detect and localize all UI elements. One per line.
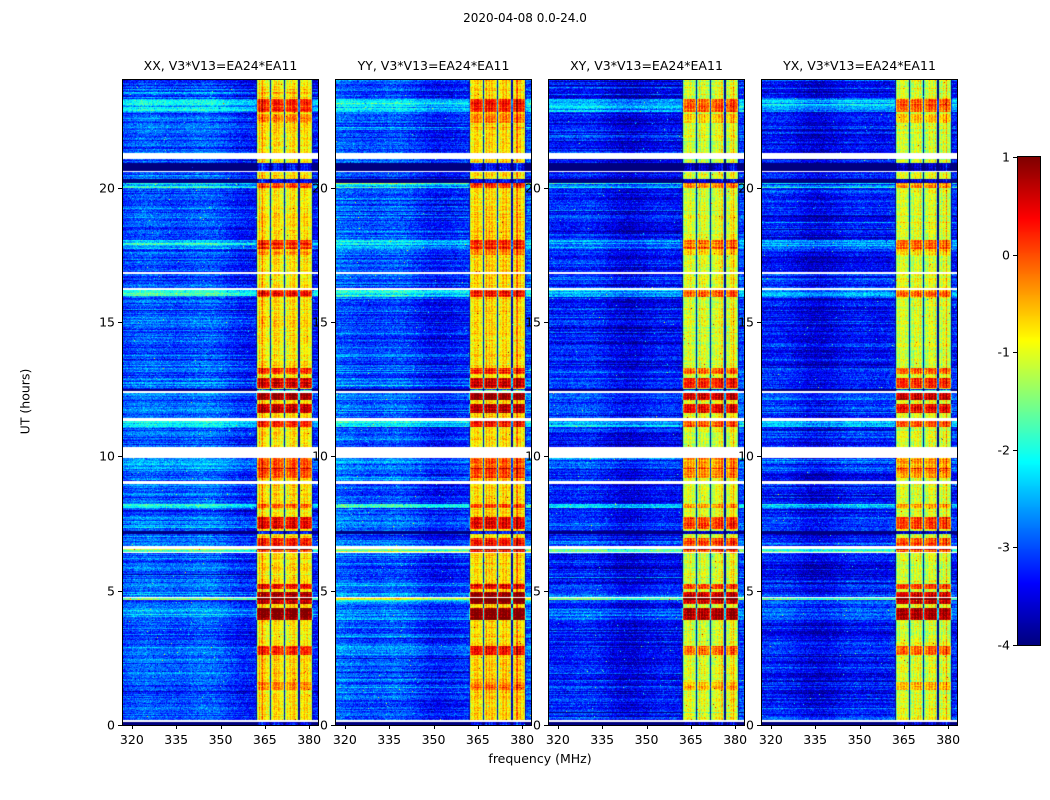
y-tick-label-yy-4: 20 bbox=[288, 180, 328, 195]
y-tickmark-xy-4 bbox=[544, 188, 548, 189]
x-tick-label-xx-3: 365 bbox=[253, 732, 277, 747]
y-tick-label-yy-0: 0 bbox=[288, 718, 328, 733]
y-tickmark-xy-3 bbox=[544, 322, 548, 323]
y-tickmark-yx-0 bbox=[757, 725, 761, 726]
y-tick-label-xx-2: 10 bbox=[75, 449, 115, 464]
colorbar bbox=[1017, 156, 1041, 646]
y-tick-label-yy-2: 10 bbox=[288, 449, 328, 464]
x-tickmark-yy-0 bbox=[345, 725, 346, 729]
y-tick-label-xx-3: 15 bbox=[75, 314, 115, 329]
waterfall-image-xx bbox=[123, 80, 318, 725]
x-tick-label-yx-4: 380 bbox=[936, 732, 960, 747]
waterfall-panel-yy: YY, V3*V13=EA24*EA11 bbox=[335, 79, 532, 726]
y-tick-label-yx-2: 10 bbox=[714, 449, 754, 464]
waterfall-panel-xx: XX, V3*V13=EA24*EA11 bbox=[122, 79, 319, 726]
x-tickmark-yx-4 bbox=[948, 725, 949, 729]
x-tickmark-yy-2 bbox=[434, 725, 435, 729]
x-tick-label-xx-2: 350 bbox=[209, 732, 233, 747]
y-tickmark-xx-4 bbox=[118, 188, 122, 189]
x-tickmark-xx-0 bbox=[132, 725, 133, 729]
x-tick-label-yy-0: 320 bbox=[333, 732, 357, 747]
y-tick-label-yy-3: 15 bbox=[288, 314, 328, 329]
waterfall-panel-yx: YX, V3*V13=EA24*EA11 bbox=[761, 79, 958, 726]
y-tickmark-yx-1 bbox=[757, 591, 761, 592]
x-tickmark-xx-1 bbox=[176, 725, 177, 729]
x-tick-label-xy-3: 365 bbox=[679, 732, 703, 747]
y-axis-label: UT (hours) bbox=[18, 341, 33, 461]
waterfall-image-xy bbox=[549, 80, 744, 725]
colorbar-tickmark-1 bbox=[1013, 547, 1017, 548]
y-tick-label-yy-1: 5 bbox=[288, 583, 328, 598]
y-tick-label-yx-0: 0 bbox=[714, 718, 754, 733]
y-tickmark-xy-1 bbox=[544, 591, 548, 592]
colorbar-tick-label-5: 1 bbox=[970, 150, 1010, 165]
colorbar-tickmark-2 bbox=[1013, 450, 1017, 451]
x-tickmark-yy-1 bbox=[389, 725, 390, 729]
x-tickmark-yy-3 bbox=[478, 725, 479, 729]
colorbar-tickmark-4 bbox=[1013, 255, 1017, 256]
y-tickmark-yy-3 bbox=[331, 322, 335, 323]
y-tickmark-xx-1 bbox=[118, 591, 122, 592]
x-tickmark-xx-3 bbox=[265, 725, 266, 729]
x-tickmark-xy-0 bbox=[558, 725, 559, 729]
x-tickmark-xy-1 bbox=[602, 725, 603, 729]
colorbar-tick-label-3: -1 bbox=[970, 345, 1010, 360]
waterfall-panel-xy: XY, V3*V13=EA24*EA11 bbox=[548, 79, 745, 726]
y-tick-label-xx-4: 20 bbox=[75, 180, 115, 195]
y-tickmark-yy-4 bbox=[331, 188, 335, 189]
x-axis-label: frequency (MHz) bbox=[488, 751, 591, 766]
colorbar-tick-label-2: -2 bbox=[970, 442, 1010, 457]
x-tick-label-yx-3: 365 bbox=[892, 732, 916, 747]
colorbar-tick-label-0: -4 bbox=[970, 638, 1010, 653]
y-tick-label-xy-0: 0 bbox=[501, 718, 541, 733]
y-tick-label-xx-0: 0 bbox=[75, 718, 115, 733]
x-tickmark-xx-2 bbox=[221, 725, 222, 729]
colorbar-tickmark-0 bbox=[1013, 645, 1017, 646]
x-tickmark-yx-2 bbox=[860, 725, 861, 729]
y-tick-label-xy-3: 15 bbox=[501, 314, 541, 329]
colorbar-tick-label-1: -3 bbox=[970, 540, 1010, 555]
x-tickmark-yx-3 bbox=[904, 725, 905, 729]
x-tick-label-yx-0: 320 bbox=[759, 732, 783, 747]
x-tickmark-yx-1 bbox=[815, 725, 816, 729]
panel-title-yy: YY, V3*V13=EA24*EA11 bbox=[358, 58, 510, 73]
y-tickmark-yy-2 bbox=[331, 456, 335, 457]
x-tickmark-yx-0 bbox=[771, 725, 772, 729]
waterfall-figure: 2020-04-08 0.0-24.0 UT (hours) frequency… bbox=[0, 0, 1050, 800]
colorbar-tickmark-3 bbox=[1013, 352, 1017, 353]
x-tick-label-xy-4: 380 bbox=[723, 732, 747, 747]
y-tickmark-xx-2 bbox=[118, 456, 122, 457]
y-tick-label-xx-1: 5 bbox=[75, 583, 115, 598]
y-tickmark-yx-2 bbox=[757, 456, 761, 457]
x-tick-label-xx-0: 320 bbox=[120, 732, 144, 747]
y-tickmark-yy-1 bbox=[331, 591, 335, 592]
x-tick-label-yy-1: 335 bbox=[377, 732, 401, 747]
x-tick-label-yy-3: 365 bbox=[466, 732, 490, 747]
y-tickmark-yx-4 bbox=[757, 188, 761, 189]
x-tick-label-yx-2: 350 bbox=[848, 732, 872, 747]
y-tick-label-xy-2: 10 bbox=[501, 449, 541, 464]
x-tick-label-xx-1: 335 bbox=[164, 732, 188, 747]
y-tick-label-yx-4: 20 bbox=[714, 180, 754, 195]
y-tickmark-xx-3 bbox=[118, 322, 122, 323]
colorbar-tickmark-5 bbox=[1013, 157, 1017, 158]
waterfall-image-yx bbox=[762, 80, 957, 725]
x-tick-label-yx-1: 335 bbox=[803, 732, 827, 747]
x-tick-label-yy-4: 380 bbox=[510, 732, 534, 747]
x-tick-label-xy-1: 335 bbox=[590, 732, 614, 747]
y-tickmark-yy-0 bbox=[331, 725, 335, 726]
x-tick-label-xy-2: 350 bbox=[635, 732, 659, 747]
y-tick-label-yx-3: 15 bbox=[714, 314, 754, 329]
panel-title-xx: XX, V3*V13=EA24*EA11 bbox=[144, 58, 298, 73]
figure-suptitle: 2020-04-08 0.0-24.0 bbox=[0, 11, 1050, 25]
waterfall-image-yy bbox=[336, 80, 531, 725]
x-tickmark-xy-3 bbox=[691, 725, 692, 729]
x-tickmark-xy-2 bbox=[647, 725, 648, 729]
y-tickmark-xy-2 bbox=[544, 456, 548, 457]
x-tick-label-xx-4: 380 bbox=[297, 732, 321, 747]
y-tick-label-xy-1: 5 bbox=[501, 583, 541, 598]
x-tick-label-yy-2: 350 bbox=[422, 732, 446, 747]
panel-title-yx: YX, V3*V13=EA24*EA11 bbox=[783, 58, 936, 73]
colorbar-tick-label-4: 0 bbox=[970, 247, 1010, 262]
x-tick-label-xy-0: 320 bbox=[546, 732, 570, 747]
y-tick-label-xy-4: 20 bbox=[501, 180, 541, 195]
y-tickmark-yx-3 bbox=[757, 322, 761, 323]
y-tick-label-yx-1: 5 bbox=[714, 583, 754, 598]
panel-title-xy: XY, V3*V13=EA24*EA11 bbox=[570, 58, 723, 73]
y-tickmark-xx-0 bbox=[118, 725, 122, 726]
y-tickmark-xy-0 bbox=[544, 725, 548, 726]
